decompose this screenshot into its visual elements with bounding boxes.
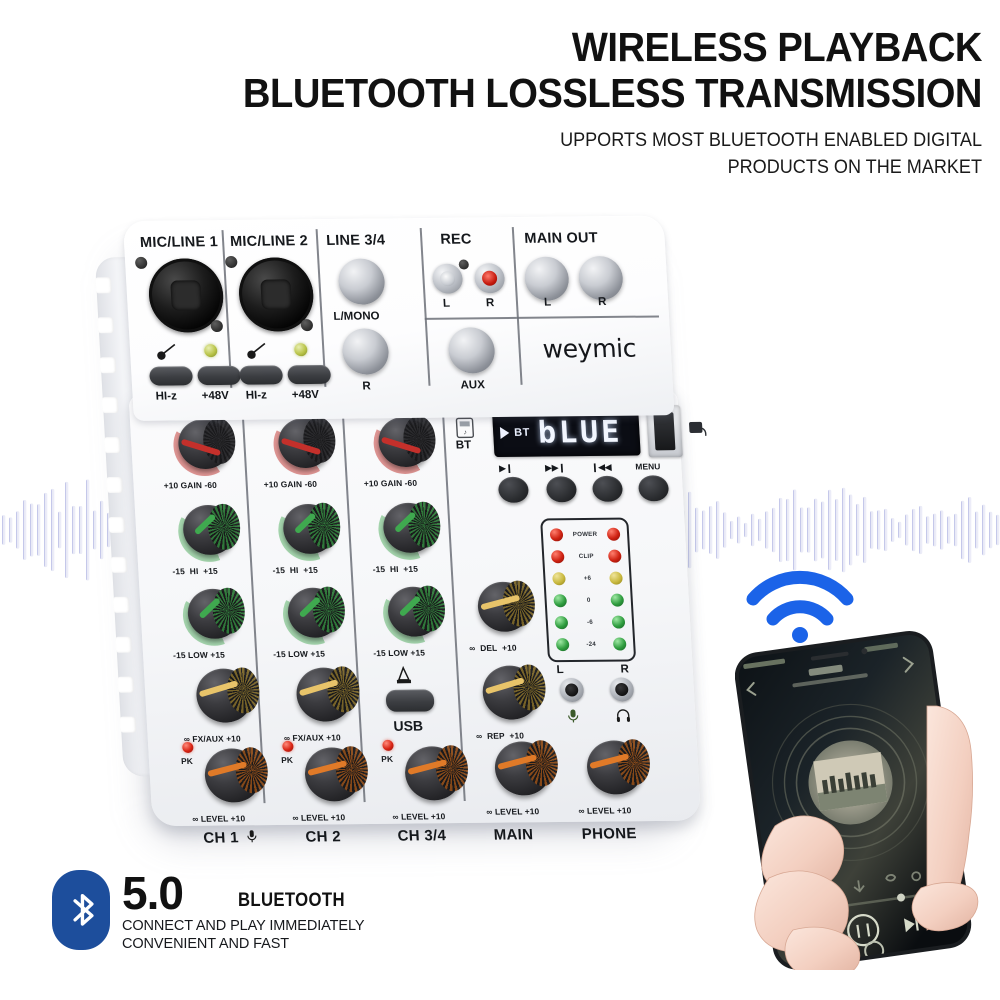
peak-led-ch2 bbox=[282, 741, 294, 752]
main-level-knob[interactable] bbox=[488, 738, 558, 805]
line34-jack-lmono[interactable] bbox=[337, 258, 386, 304]
headline-block: WIRELESS PLAYBACK BLUETOOTH LOSSLESS TRA… bbox=[102, 26, 982, 182]
fx-aux-scale-ch1: ∞ FX/AUX +10 bbox=[184, 733, 241, 744]
delay-scale: ∞ DEL +10 bbox=[469, 643, 517, 653]
mixer-top-connector-panel: MIC/LINE 1 MIC/LINE 2 LINE 3/4 REC MAIN … bbox=[123, 215, 675, 420]
bluetooth-version-number: 5.0 bbox=[122, 866, 183, 920]
pk-label-ch1: PK bbox=[181, 756, 193, 766]
low-eq-knob-ch34[interactable] bbox=[381, 583, 444, 644]
hi-scale-ch2: -15 HI +15 bbox=[272, 565, 318, 575]
screw-icon bbox=[210, 320, 223, 332]
speaker-icon bbox=[390, 664, 417, 686]
gain-scale-ch1: +10 GAIN -60 bbox=[163, 480, 217, 491]
fx-aux-knob-ch2[interactable] bbox=[290, 664, 360, 731]
bluetooth-tagline-1: CONNECT AND PLAY IMMEDIATELY bbox=[122, 918, 364, 934]
guitar-icon bbox=[246, 342, 269, 360]
main-level-scale: ∞ LEVEL +10 bbox=[486, 806, 539, 817]
bluetooth-word-label: BLUETOOTH bbox=[238, 890, 345, 912]
phone-level-scale: ∞ LEVEL +10 bbox=[578, 805, 631, 816]
hiz-button-2[interactable] bbox=[239, 365, 283, 384]
lcd-mode-label: BT bbox=[514, 427, 530, 439]
vu-row-label-clip: CLIP bbox=[544, 553, 628, 561]
play-indicator-icon bbox=[500, 427, 510, 439]
repeat-knob[interactable] bbox=[476, 662, 546, 729]
mic-input-jack[interactable] bbox=[559, 678, 584, 702]
hi-eq-knob-ch2[interactable] bbox=[277, 501, 340, 562]
vu-row-label-plus6: +6 bbox=[545, 575, 629, 583]
bluetooth-logo-icon bbox=[52, 870, 110, 950]
headline-line-2: BLUETOOTH LOSSLESS TRANSMISSION bbox=[164, 69, 982, 117]
main-label: MAIN bbox=[493, 826, 534, 843]
play-pause-label: ▶❙ bbox=[499, 463, 513, 473]
headline-line-1: WIRELESS PLAYBACK bbox=[164, 26, 982, 69]
level-scale-ch1: ∞ LEVEL +10 bbox=[192, 813, 245, 824]
screw-icon bbox=[225, 256, 238, 268]
p48v-button-2[interactable] bbox=[287, 365, 331, 384]
svg-text:♪: ♪ bbox=[463, 429, 467, 436]
gain-knob-ch34[interactable] bbox=[372, 414, 435, 475]
next-track-label: ▶▶❙ bbox=[545, 462, 566, 472]
mixer-control-panel: +10 GAIN -60 +10 GAIN -60 +10 GAIN -60 ♪… bbox=[129, 389, 702, 826]
audio-mixer-product: MIC/LINE 1 MIC/LINE 2 LINE 3/4 REC MAIN … bbox=[96, 196, 716, 856]
gain-knob-ch2[interactable] bbox=[272, 415, 335, 476]
usb-button[interactable] bbox=[385, 689, 434, 711]
divider bbox=[221, 230, 231, 388]
vu-row-label-zero: 0 bbox=[546, 596, 630, 604]
line34-jack-r[interactable] bbox=[341, 328, 390, 374]
brand-logo: weymic bbox=[542, 334, 637, 364]
low-scale-ch2: -15 LOW +15 bbox=[273, 649, 325, 660]
hiz-button-1[interactable] bbox=[149, 366, 193, 385]
divider bbox=[420, 228, 430, 386]
channel-label-ch2: CH 2 bbox=[305, 828, 341, 845]
channel-label-ch34: CH 3/4 bbox=[397, 827, 446, 844]
bluetooth-device-icon bbox=[687, 419, 710, 441]
pk-label-ch34: PK bbox=[381, 754, 393, 764]
peak-led-ch34 bbox=[382, 740, 394, 751]
section-title-mic-line-1: MIC/LINE 1 bbox=[140, 234, 219, 251]
aux-jack[interactable] bbox=[447, 327, 496, 373]
line34-r-label: R bbox=[362, 380, 371, 392]
level-knob-ch34[interactable] bbox=[398, 743, 468, 810]
low-scale-ch34: -15 LOW +15 bbox=[373, 648, 425, 659]
section-title-rec: REC bbox=[440, 231, 472, 247]
p48v-button-1[interactable] bbox=[197, 366, 241, 385]
section-title-line-34: LINE 3/4 bbox=[326, 232, 386, 249]
main-out-jack-l[interactable] bbox=[523, 256, 569, 300]
rec-rca-left[interactable] bbox=[432, 264, 464, 294]
phantom-led-1 bbox=[204, 344, 218, 357]
screw-icon bbox=[301, 319, 314, 331]
headphone-output-jack[interactable] bbox=[609, 677, 634, 701]
main-out-label-l: L bbox=[544, 297, 552, 309]
microphone-icon bbox=[245, 829, 259, 844]
divider bbox=[425, 317, 517, 319]
section-title-mic-line-2: MIC/LINE 2 bbox=[230, 233, 309, 250]
wireless-signal-icon bbox=[745, 565, 855, 650]
hiz-label-1: HI-z bbox=[155, 390, 177, 402]
section-title-main-out: MAIN OUT bbox=[524, 230, 598, 247]
vu-label-right: R bbox=[620, 663, 629, 675]
prev-track-button[interactable] bbox=[592, 476, 623, 502]
p48v-label-2: +48V bbox=[291, 389, 319, 401]
usb-label: USB bbox=[393, 718, 423, 734]
phantom-led-2 bbox=[294, 343, 308, 356]
pk-label-ch2: PK bbox=[281, 755, 293, 765]
vu-meter: POWER CLIP +6 0 -6 -24 bbox=[540, 518, 636, 663]
aux-label: AUX bbox=[460, 379, 485, 391]
level-scale-ch34: ∞ LEVEL +10 bbox=[392, 811, 445, 822]
vu-row-label-minus6: -6 bbox=[548, 618, 632, 626]
divider bbox=[316, 229, 326, 387]
fx-aux-scale-ch2: ∞ FX/AUX +10 bbox=[284, 732, 341, 743]
hi-scale-ch34: -15 HI +15 bbox=[372, 564, 418, 574]
phone-level-knob[interactable] bbox=[580, 737, 650, 804]
vu-label-left: L bbox=[556, 664, 564, 676]
hiz-label-2: HI-z bbox=[245, 389, 267, 401]
phone-label: PHONE bbox=[581, 825, 637, 843]
rec-rca-right[interactable] bbox=[474, 263, 506, 293]
menu-button[interactable] bbox=[638, 475, 669, 501]
play-pause-button[interactable] bbox=[498, 477, 529, 503]
screw-icon bbox=[459, 259, 470, 269]
fx-aux-knob-ch1[interactable] bbox=[190, 665, 260, 732]
microphone-icon bbox=[565, 708, 582, 724]
level-knob-ch1[interactable] bbox=[198, 745, 268, 812]
hand-holding-phone bbox=[735, 630, 1000, 970]
bluetooth-version-badge: 5.0 BLUETOOTH CONNECT AND PLAY IMMEDIATE… bbox=[52, 868, 472, 963]
delay-knob[interactable] bbox=[471, 579, 534, 640]
low-eq-knob-ch2[interactable] bbox=[281, 585, 344, 646]
line34-lmono-label: L/MONO bbox=[333, 310, 380, 322]
headphone-icon bbox=[615, 707, 632, 723]
hi-scale-ch1: -15 HI +15 bbox=[172, 566, 218, 576]
next-track-button[interactable] bbox=[546, 476, 577, 502]
main-out-label-r: R bbox=[598, 296, 607, 308]
vu-row-label-minus24: -24 bbox=[549, 640, 633, 648]
main-out-jack-r[interactable] bbox=[578, 256, 624, 300]
channel-label-ch1: CH 1 bbox=[203, 829, 239, 846]
lcd-text: bLUE bbox=[537, 414, 623, 450]
bt-label: BT bbox=[456, 439, 472, 451]
bt-card-icon: ♪ bbox=[454, 417, 475, 439]
level-knob-ch2[interactable] bbox=[298, 744, 368, 811]
guitar-icon bbox=[156, 342, 179, 360]
p48v-label-1: +48V bbox=[201, 390, 229, 402]
low-scale-ch1: -15 LOW +15 bbox=[173, 650, 225, 661]
gain-knob-ch1[interactable] bbox=[172, 416, 235, 477]
divider bbox=[517, 315, 659, 318]
rec-label-l: L bbox=[443, 298, 451, 310]
vu-row-label-power: POWER bbox=[543, 531, 627, 539]
level-scale-ch2: ∞ LEVEL +10 bbox=[292, 812, 345, 823]
gain-scale-ch34: +10 GAIN -60 bbox=[364, 478, 418, 489]
rec-label-r: R bbox=[486, 297, 495, 309]
menu-label: MENU bbox=[635, 461, 661, 471]
gain-scale-ch2: +10 GAIN -60 bbox=[263, 479, 317, 490]
low-eq-knob-ch1[interactable] bbox=[181, 586, 244, 647]
hi-eq-knob-ch34[interactable] bbox=[377, 500, 440, 561]
peak-led-ch1 bbox=[182, 742, 194, 753]
hi-eq-knob-ch1[interactable] bbox=[177, 502, 240, 563]
headline-subline-1: UPPORTS MOST BLUETOOTH ENABLED DIGITAL bbox=[146, 127, 982, 155]
bluetooth-tagline-2: CONVENIENT AND FAST bbox=[122, 936, 289, 952]
divider bbox=[512, 227, 522, 385]
prev-track-label: ❙◀◀ bbox=[591, 462, 612, 472]
headline-subline-2: PRODUCTS ON THE MARKET bbox=[146, 154, 982, 182]
screw-icon bbox=[135, 257, 148, 269]
